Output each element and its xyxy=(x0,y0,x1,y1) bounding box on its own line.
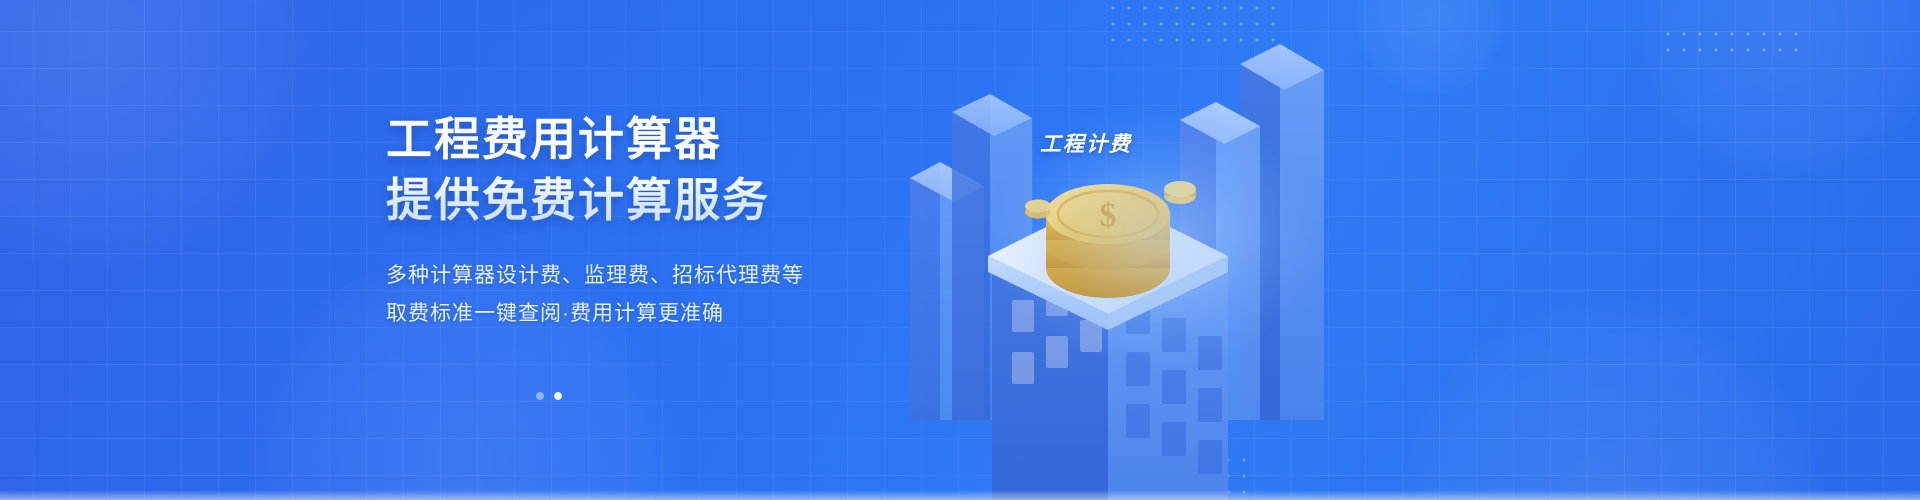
carousel-dot-2[interactable] xyxy=(554,392,562,400)
banner-illustration: $ 工程计费 xyxy=(880,0,1440,500)
bottom-edge-fade xyxy=(0,490,1920,500)
dot-matrix-top-far-right xyxy=(1660,26,1810,64)
hero-banner: 工程费用计算器 提供免费计算服务 多种计算器设计费、监理费、招标代理费等 取费标… xyxy=(0,0,1920,500)
carousel-dot-1[interactable] xyxy=(536,392,544,400)
headline-line-1: 工程费用计算器 xyxy=(386,113,722,165)
illustration-tag-label: 工程计费 xyxy=(1040,128,1132,158)
carousel-indicators[interactable] xyxy=(536,392,562,400)
